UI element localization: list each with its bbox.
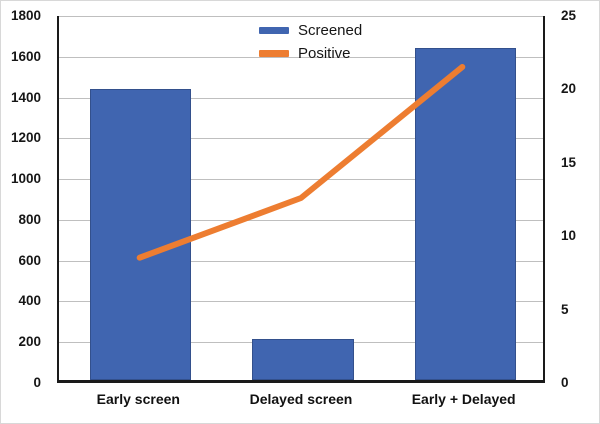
right-axis-tick: 15 [553, 156, 576, 170]
right-axis-tick: 0 [553, 376, 569, 390]
left-axis-tick-labels: 020040060080010001200140016001800 [1, 16, 49, 383]
left-axis-tick: 1000 [11, 172, 49, 186]
legend-swatch-icon [259, 50, 289, 57]
legend-label: Positive [298, 46, 351, 61]
left-axis-tick: 200 [18, 335, 49, 349]
legend-label: Screened [298, 23, 362, 38]
legend-swatch-icon [259, 27, 289, 34]
left-axis-tick: 800 [18, 213, 49, 227]
left-axis-tick: 1600 [11, 50, 49, 64]
bar [415, 48, 517, 380]
chart-legend: ScreenedPositive [259, 23, 362, 61]
left-axis-tick: 600 [18, 254, 49, 268]
chart-figure: 020040060080010001200140016001800 051015… [0, 0, 600, 424]
gridline [59, 16, 543, 17]
right-axis-tick: 5 [553, 303, 569, 317]
category-label: Early screen [57, 391, 220, 407]
left-axis-tick: 1800 [11, 9, 49, 23]
left-axis-tick: 1200 [11, 131, 49, 145]
bar [90, 89, 192, 380]
plot-area [57, 16, 545, 383]
bar [252, 339, 354, 380]
category-label: Early + Delayed [382, 391, 545, 407]
right-axis-tick: 25 [553, 9, 576, 23]
left-axis-tick: 400 [18, 294, 49, 308]
legend-item: Screened [259, 23, 362, 38]
category-label: Delayed screen [220, 391, 383, 407]
category-axis-labels: Early screenDelayed screenEarly + Delaye… [57, 391, 545, 417]
left-axis-tick: 0 [33, 376, 49, 390]
legend-item: Positive [259, 46, 362, 61]
right-axis-tick-labels: 0510152025 [553, 16, 597, 383]
right-axis-tick: 20 [553, 82, 576, 96]
right-axis-tick: 10 [553, 229, 576, 243]
left-axis-tick: 1400 [11, 91, 49, 105]
